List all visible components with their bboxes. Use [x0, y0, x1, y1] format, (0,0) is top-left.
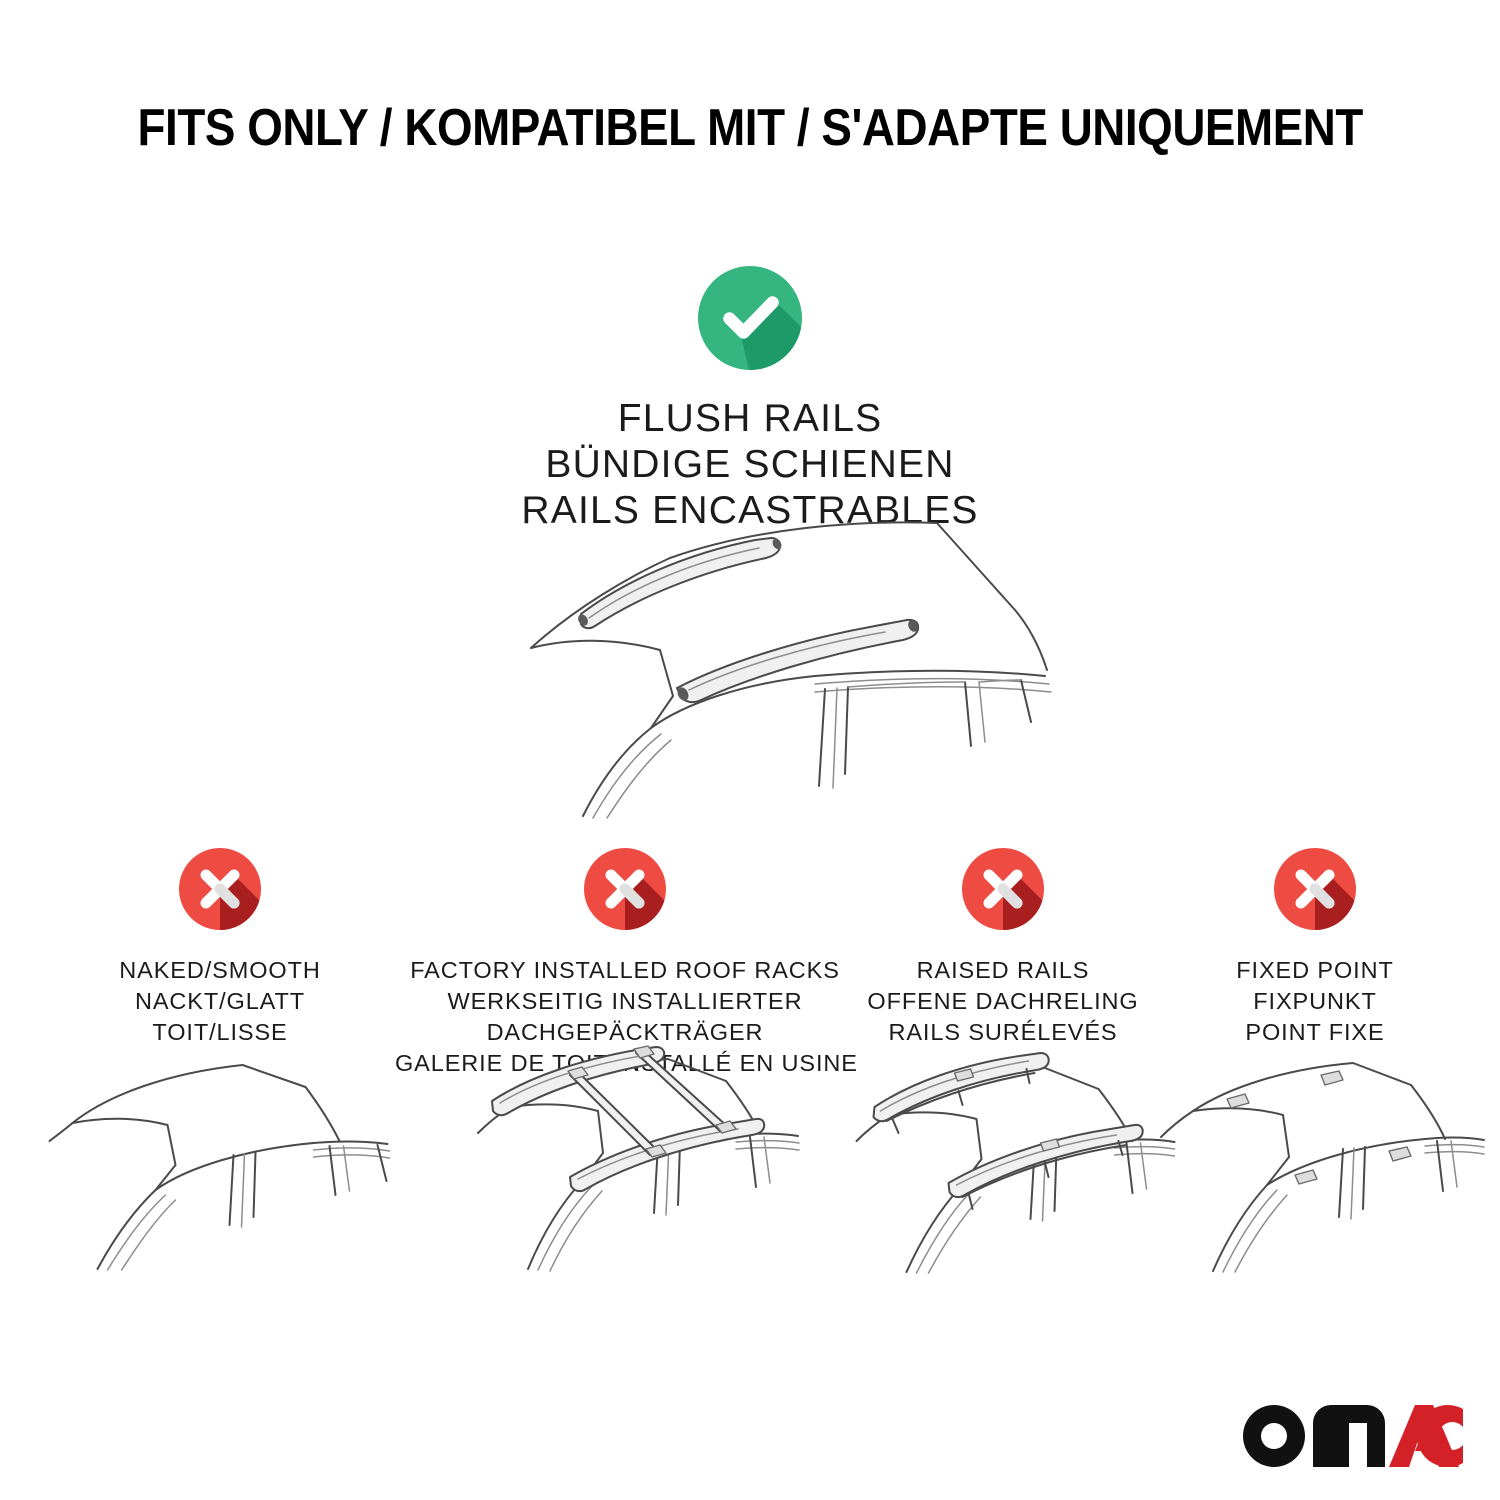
check-circle-icon [694, 262, 806, 374]
cross-circle-icon [581, 845, 669, 933]
car-roof-with-flush-rails-illustration [455, 498, 1065, 818]
page-title: FITS ONLY / KOMPATIBEL MIT / S'ADAPTE UN… [137, 102, 1362, 154]
incompatible-section: NAKED/SMOOTH NACKT/GLATT TOIT/LISSE [0, 845, 1500, 1445]
incompatible-item-fixed-point: FIXED POINT FIXPUNKT POINT FIXE [1170, 845, 1460, 1048]
label-line-de: NACKT/GLATT [55, 986, 385, 1017]
logo-letter-m [1313, 1405, 1385, 1467]
cross-circle-icon [1271, 845, 1359, 933]
label-line-en: RAISED RAILS [838, 955, 1168, 986]
incompatible-item-naked-smooth: NAKED/SMOOTH NACKT/GLATT TOIT/LISSE [55, 845, 385, 1048]
label-line-fr: TOIT/LISSE [55, 1017, 385, 1048]
car-roof-bare-illustration [48, 1045, 393, 1270]
incompatible-item-raised-rails: RAISED RAILS OFFENE DACHRELING RAILS SUR… [838, 845, 1168, 1048]
car-roof-with-raised-rails-illustration [831, 1045, 1176, 1273]
label-line-fr: RAILS SURÉLEVÉS [838, 1017, 1168, 1048]
label-line-en: FIXED POINT [1170, 955, 1460, 986]
incompatible-label-naked-smooth: NAKED/SMOOTH NACKT/GLATT TOIT/LISSE [55, 955, 385, 1048]
page-title-bar: FITS ONLY / KOMPATIBEL MIT / S'ADAPTE UN… [0, 102, 1500, 154]
label-line-en: FACTORY INSTALLED ROOF RACKS [395, 955, 855, 986]
incompatible-item-factory-roof-racks: FACTORY INSTALLED ROOF RACKS WERKSEITIG … [395, 845, 855, 1079]
logo-letter-o [1243, 1405, 1305, 1467]
label-line-de: OFFENE DACHRELING [838, 986, 1168, 1017]
label-line-fr: POINT FIXE [1170, 1017, 1460, 1048]
label-line-en: NAKED/SMOOTH [55, 955, 385, 986]
label-line-de: FIXPUNKT [1170, 986, 1460, 1017]
car-roof-with-factory-crossbars-illustration [450, 1041, 800, 1271]
cross-circle-icon [176, 845, 264, 933]
compatible-section: FLUSH RAILS BÜNDIGE SCHIENEN RAILS ENCAS… [0, 262, 1500, 534]
label-line-de-1: WERKSEITIG INSTALLIERTER [395, 986, 855, 1017]
omac-logo [1243, 1405, 1463, 1467]
incompatible-label-fixed-point: FIXED POINT FIXPUNKT POINT FIXE [1170, 955, 1460, 1048]
cross-circle-icon [959, 845, 1047, 933]
car-roof-with-fixed-points-illustration [1145, 1047, 1485, 1272]
compatible-label-line-de: BÜNDIGE SCHIENEN [0, 442, 1500, 488]
compatible-label-line-en: FLUSH RAILS [0, 396, 1500, 442]
incompatible-label-raised-rails: RAISED RAILS OFFENE DACHRELING RAILS SUR… [838, 955, 1168, 1048]
